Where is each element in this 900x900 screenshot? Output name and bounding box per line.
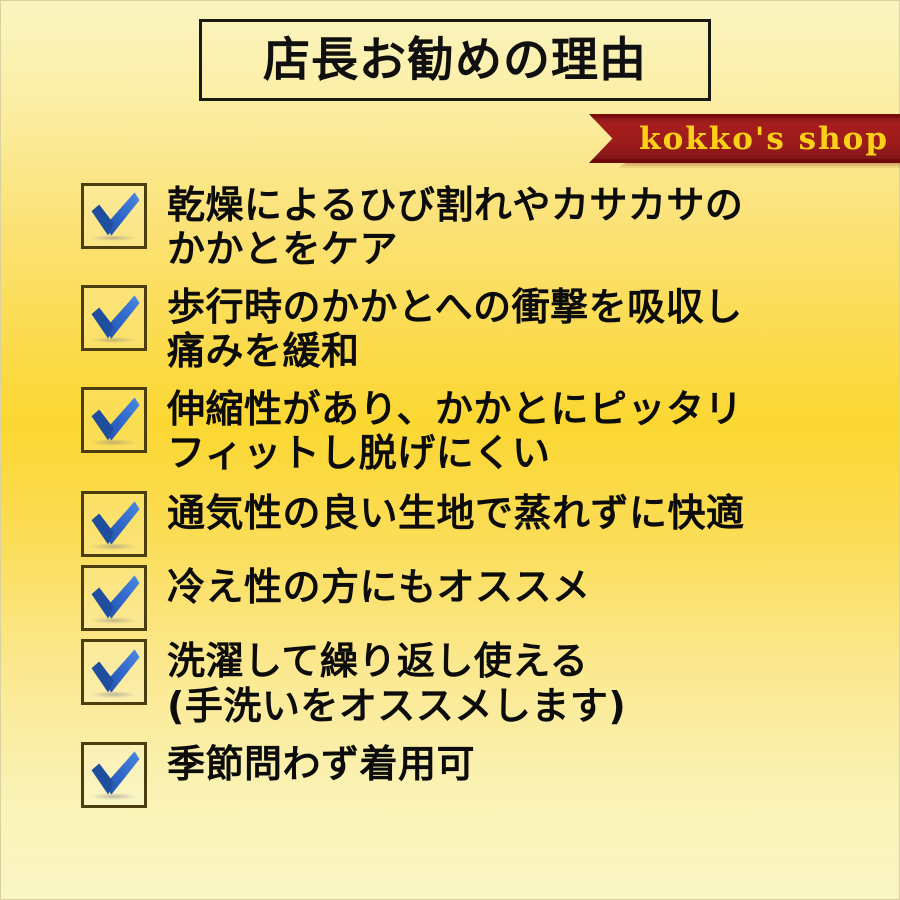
benefits-checklist: 乾燥によるひび割れやカサカサの かかとをケア歩行時のかかとへの衝撃を吸収し 痛み… [1,179,900,808]
list-item: 歩行時のかかとへの衝撃を吸収し 痛みを緩和 [1,281,900,373]
checkbox [81,639,147,705]
check-icon [86,497,141,552]
shop-name-label: kokko's shop [639,121,900,157]
check-icon [86,393,141,448]
list-item-label: 季節問わず着用可 [167,738,475,786]
check-icon [86,291,141,346]
title-box: 店長お勧めの理由 [199,19,711,101]
check-icon [86,571,141,626]
list-item: 冷え性の方にもオススメ [1,561,900,631]
list-item-label: 洗濯して繰り返し使える (手洗いをオススメします) [167,635,626,727]
promo-banner: 店長お勧めの理由 kokko's shop 乾燥によるひび割れやカサカサの かか… [0,0,900,900]
list-item-label: 冷え性の方にもオススメ [167,561,591,609]
list-item: 通気性の良い生地で蒸れずに快適 [1,487,900,557]
list-item-label: 歩行時のかかとへの衝撃を吸収し 痛みを緩和 [167,281,743,373]
list-item-label: 乾燥によるひび割れやカサカサの かかとをケア [167,179,743,271]
list-item: 乾燥によるひび割れやカサカサの かかとをケア [1,179,900,271]
checkbox [81,183,147,249]
check-icon [86,747,141,802]
list-item: 洗濯して繰り返し使える (手洗いをオススメします) [1,635,900,727]
shop-ribbon: kokko's shop [589,114,900,163]
checkbox [81,387,147,453]
list-item-label: 伸縮性があり、かかとにピッタリ フィットし脱げにくい [167,383,743,475]
check-icon [86,645,141,700]
list-item-label: 通気性の良い生地で蒸れずに快適 [167,487,745,535]
list-item: 伸縮性があり、かかとにピッタリ フィットし脱げにくい [1,383,900,475]
check-icon [86,188,141,243]
checkbox [81,565,147,631]
page-title: 店長お勧めの理由 [263,37,647,84]
checkbox [81,491,147,557]
checkbox [81,285,147,351]
list-item: 季節問わず着用可 [1,738,900,808]
checkbox [81,742,147,808]
